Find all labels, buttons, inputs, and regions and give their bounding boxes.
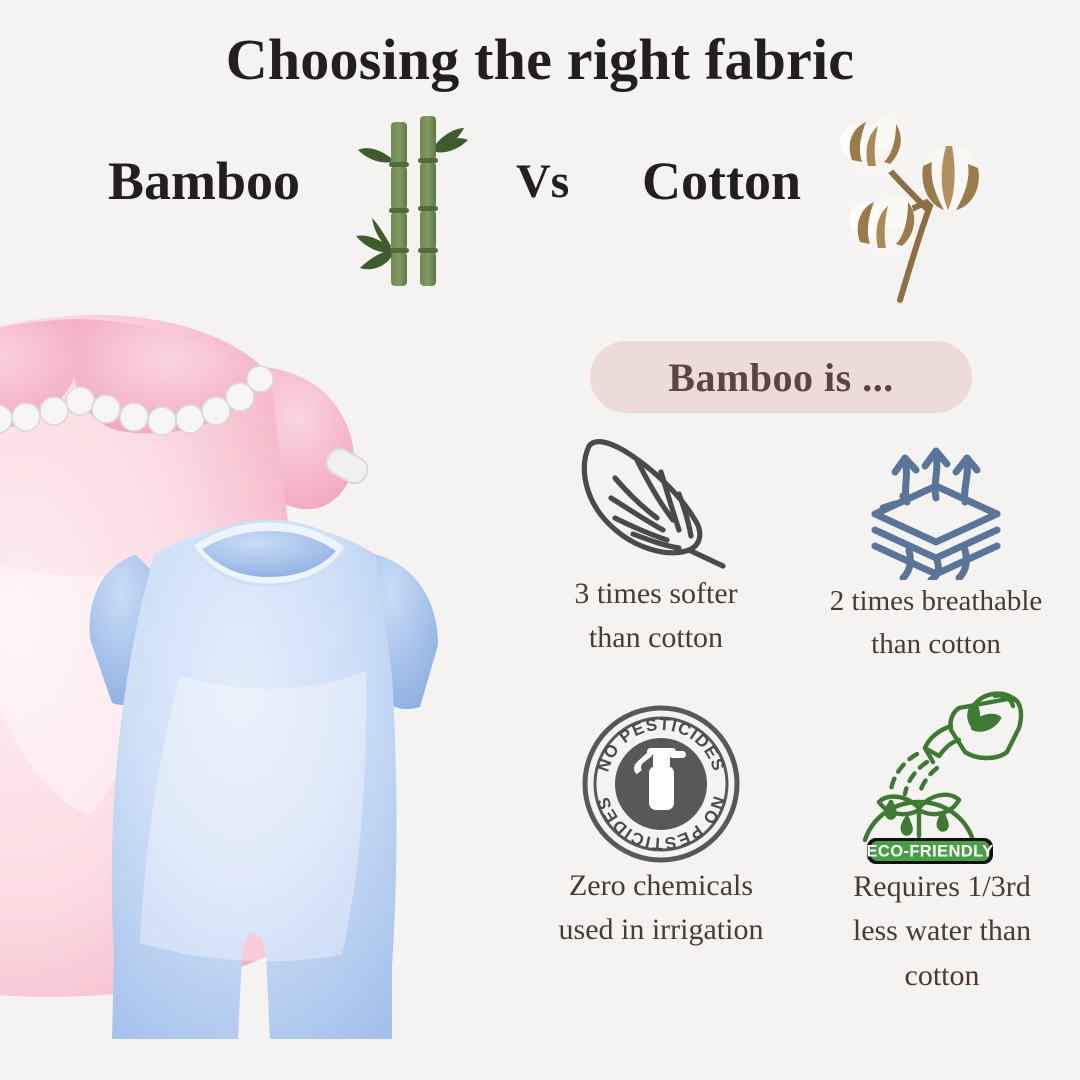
bamboo-is-banner: Bamboo is ... [590,341,972,413]
feature-no-pesticides: NO PESTICIDES NO PESTICIDES Zero chemica… [530,704,792,953]
comparison-left-term: Bamboo [108,150,300,212]
page-title: Choosing the right fabric [0,26,1080,93]
feature-breathable: 2 times breathable than cotton [792,440,1080,666]
baby-garments-illustration [0,255,560,1080]
feature-less-water: ECO-FRIENDLY Requires 1/3rd less water t… [804,690,1080,998]
cotton-branch-icon [828,100,1078,330]
comparison-right-term: Cotton [642,150,801,212]
blue-baby-romper [89,521,438,1039]
infographic-canvas: Choosing the right fabric Bamboo Vs Cott… [0,0,1080,1080]
watering-can-sprout-icon: ECO-FRIENDLY [847,690,1037,865]
banner-label: Bamboo is ... [668,354,893,401]
feature-softer-label: 3 times softer than cotton [530,572,782,661]
eco-friendly-badge: ECO-FRIENDLY [866,838,993,864]
breathable-layers-icon [861,440,1011,580]
eco-friendly-badge-text: ECO-FRIENDLY [866,843,993,861]
feature-less-water-label: Requires 1/3rd less water than cotton [804,865,1080,998]
feature-grid: 3 times softer than cotton [512,432,1080,1052]
no-pesticides-badge-icon: NO PESTICIDES NO PESTICIDES [581,704,741,864]
comparison-separator: Vs [516,154,569,209]
feature-no-pesticides-label: Zero chemicals used in irrigation [530,864,792,953]
feather-icon [571,432,741,572]
feature-breathable-label: 2 times breathable than cotton [792,580,1080,666]
feature-softer: 3 times softer than cotton [530,432,782,661]
